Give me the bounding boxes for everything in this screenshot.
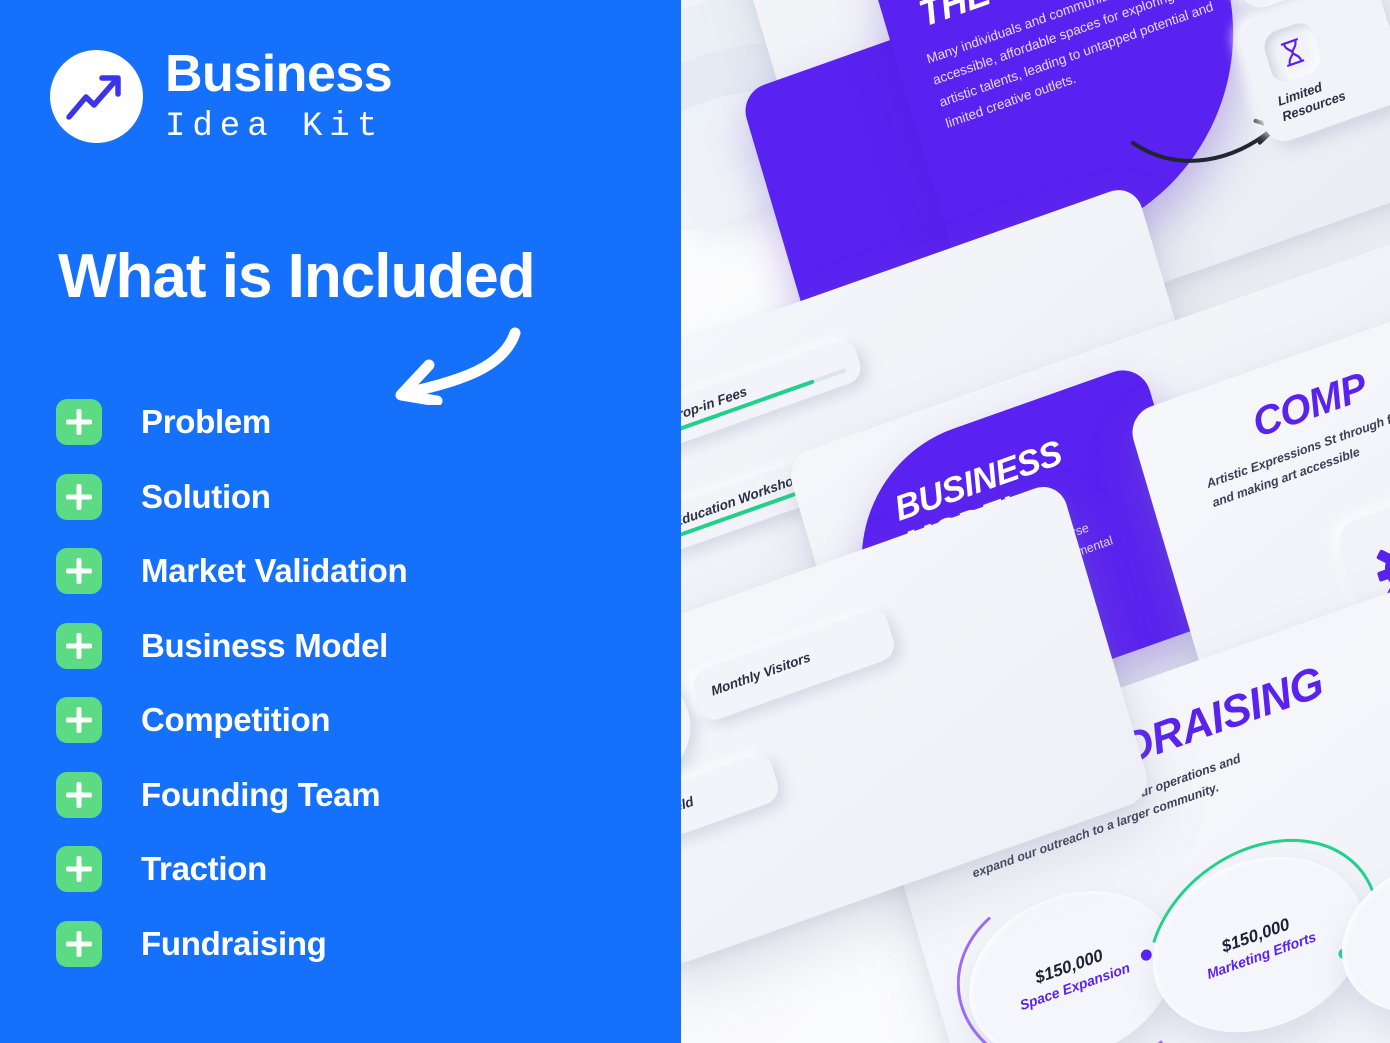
page-title: What is Included <box>58 246 535 308</box>
stat-chip[interactable]: Held <box>681 751 782 861</box>
feature-label: Competition <box>141 701 330 739</box>
plus-icon <box>56 548 102 594</box>
plus-icon <box>56 399 102 445</box>
feature-item-traction[interactable]: Traction <box>56 832 616 907</box>
stat-label: Monthly Visitors <box>709 649 812 698</box>
feature-label: Fundraising <box>141 925 327 963</box>
growth-chart-icon <box>50 50 143 143</box>
brand-subtitle: Idea Kit <box>165 110 392 144</box>
feature-item-fundraising[interactable]: Fundraising <box>56 907 616 982</box>
metric-bar-row[interactable]: Drop-in Fees <box>681 336 864 450</box>
plus-icon <box>56 623 102 669</box>
slide-collage: THE PROBLEM Many individuals and communi… <box>681 0 1390 1043</box>
stat-label: Held <box>681 794 695 818</box>
plus-icon <box>56 697 102 743</box>
feature-item-founding-team[interactable]: Founding Team <box>56 758 616 833</box>
feature-item-solution[interactable]: Solution <box>56 460 616 535</box>
plus-icon <box>56 921 102 967</box>
brand-logo[interactable]: Business Idea Kit <box>50 48 392 144</box>
feature-label: Solution <box>141 478 271 516</box>
feature-item-market-validation[interactable]: Market Validation <box>56 534 616 609</box>
feature-label: Problem <box>141 403 271 441</box>
feature-item-business-model[interactable]: Business Model <box>56 609 616 684</box>
feature-label: Traction <box>141 850 267 888</box>
included-features-list: Problem Solution Market Validation Busin… <box>56 385 616 981</box>
stat-chip[interactable]: Monthly Visitors <box>690 606 898 724</box>
slide-deck: THE PROBLEM Many individuals and communi… <box>681 0 1390 1043</box>
feature-label: Founding Team <box>141 776 380 814</box>
plus-icon <box>56 846 102 892</box>
feature-label: Business Model <box>141 627 388 665</box>
plus-icon <box>56 772 102 818</box>
feature-item-problem[interactable]: Problem <box>56 385 616 460</box>
left-info-panel: Business Idea Kit What is Included Probl… <box>0 0 681 1043</box>
feature-label: Market Validation <box>141 552 407 590</box>
hourglass-icon <box>1261 19 1325 86</box>
brand-title: Business <box>165 48 392 100</box>
poster-canvas: THE PROBLEM Many individuals and communi… <box>0 0 1390 1043</box>
feature-item-competition[interactable]: Competition <box>56 683 616 758</box>
plus-icon <box>56 474 102 520</box>
